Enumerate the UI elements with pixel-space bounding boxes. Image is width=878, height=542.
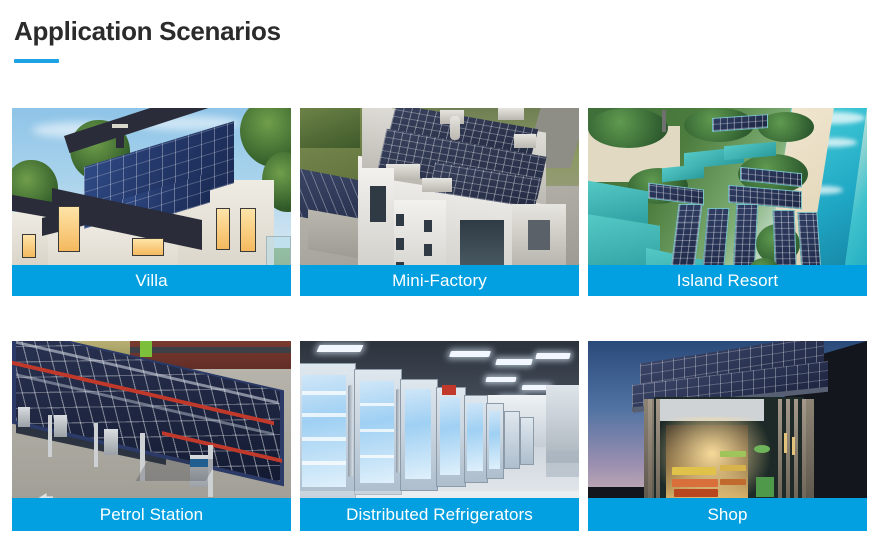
- scenario-caption-villa: Villa: [12, 265, 291, 296]
- scenario-caption-island-resort: Island Resort: [588, 265, 867, 296]
- title-underline-accent: [14, 59, 59, 63]
- scenario-card-mini-factory[interactable]: Mini-Factory: [300, 108, 579, 296]
- section-header: Application Scenarios: [14, 14, 281, 63]
- scenario-card-island-resort[interactable]: Island Resort: [588, 108, 867, 296]
- scenario-card-petrol-station[interactable]: Petrol Station: [12, 341, 291, 531]
- scenario-card-villa[interactable]: Villa: [12, 108, 291, 296]
- application-scenarios-page: Application Scenarios: [0, 0, 878, 542]
- scenario-card-distributed-refrigerators[interactable]: Distributed Refrigerators: [300, 341, 579, 531]
- scenario-caption-distributed-refrigerators: Distributed Refrigerators: [300, 498, 579, 531]
- scenario-caption-mini-factory: Mini-Factory: [300, 265, 579, 296]
- scenario-card-grid: Villa: [12, 108, 866, 531]
- scenario-card-shop[interactable]: Shop: [588, 341, 867, 531]
- scenario-caption-shop: Shop: [588, 498, 867, 531]
- page-title: Application Scenarios: [14, 14, 281, 48]
- scenario-caption-petrol-station: Petrol Station: [12, 498, 291, 531]
